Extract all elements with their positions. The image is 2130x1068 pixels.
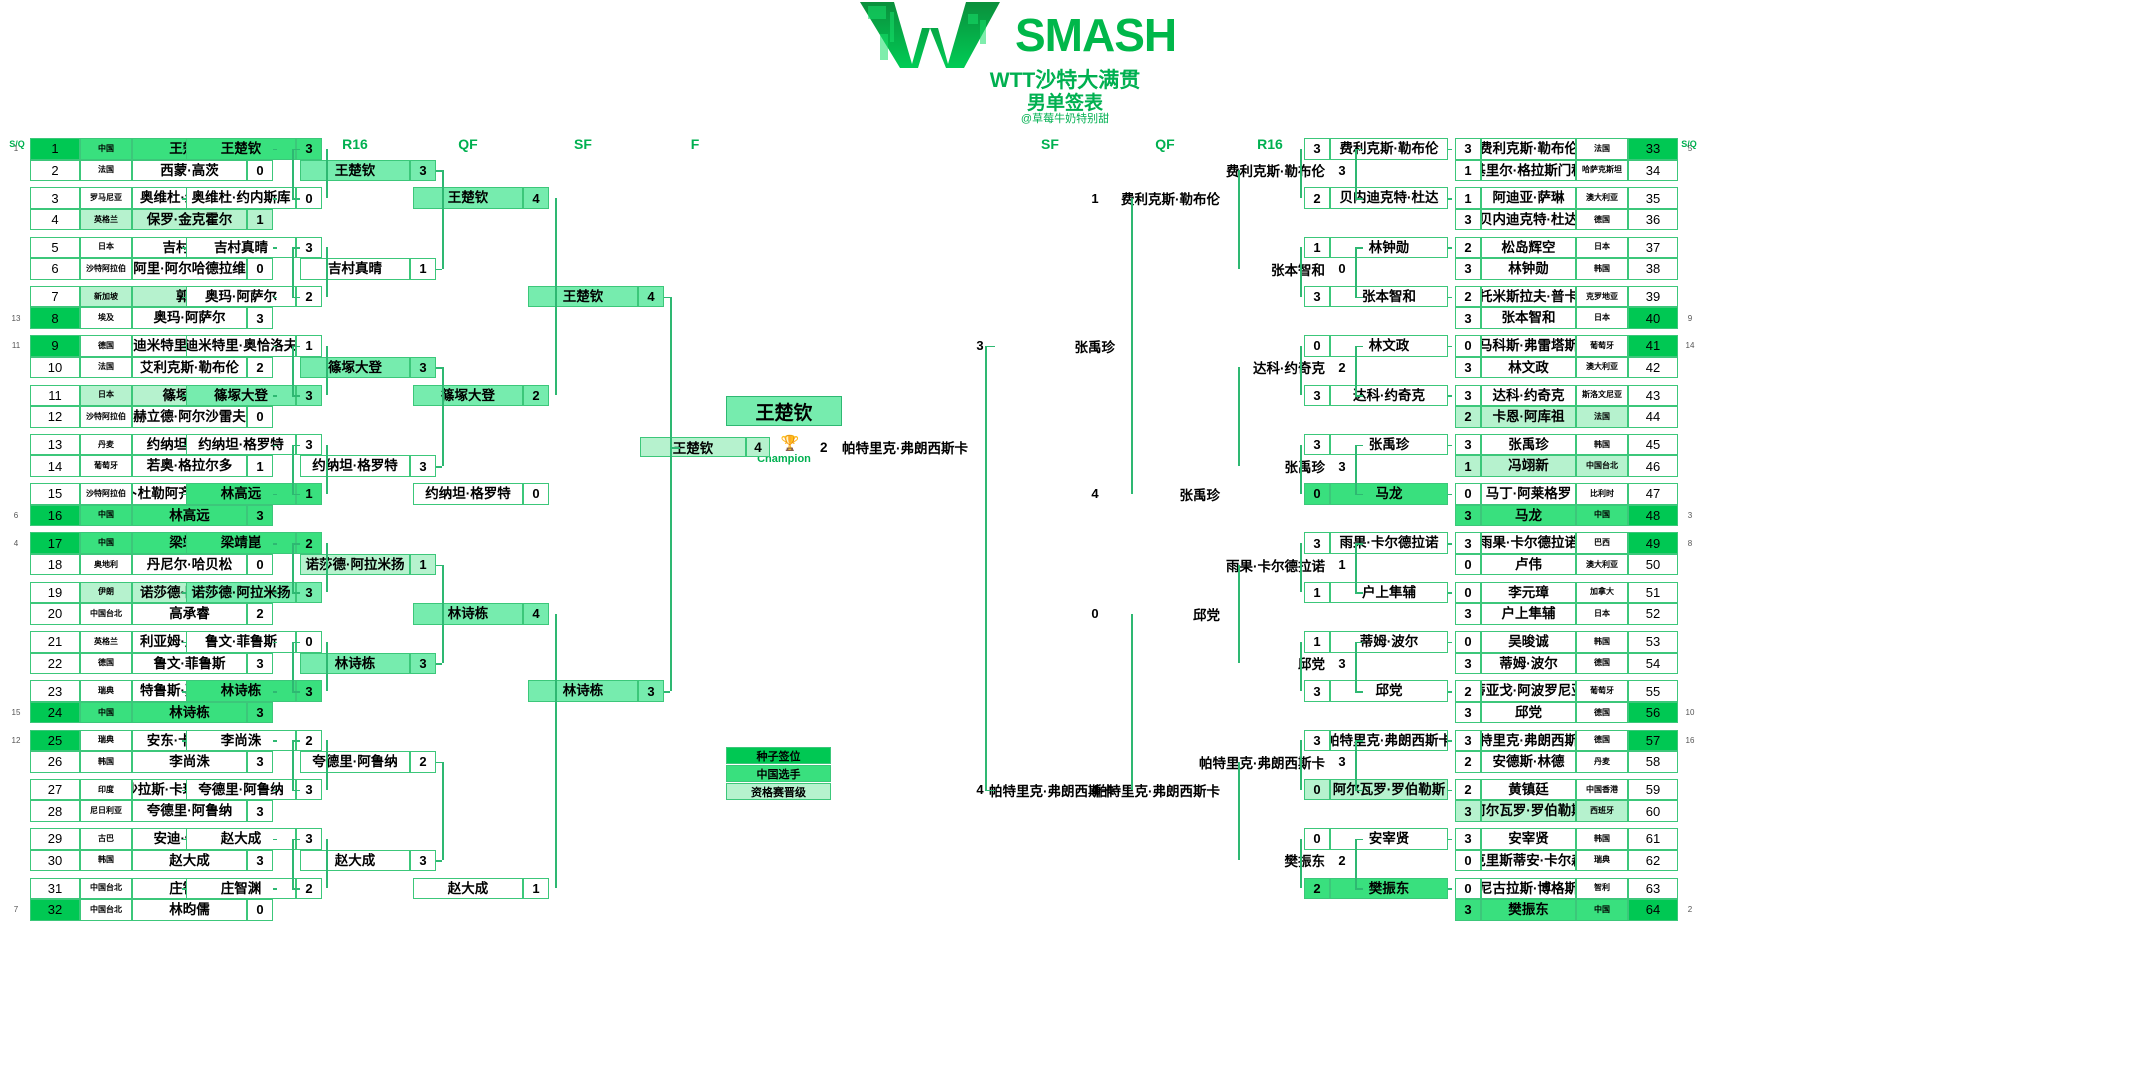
left-player-r64[interactable]: 林昀儒 (132, 899, 247, 921)
left-player-r32[interactable]: 诺莎德·阿拉米扬 (186, 582, 296, 604)
left-player-r32[interactable]: 迪米特里·奥恰洛夫 (186, 335, 296, 357)
left-player-qf[interactable]: 林诗栋 (413, 603, 523, 625)
left-draw-number: 21 (30, 631, 80, 653)
right-score-r32: 3 (1304, 286, 1330, 308)
right-player-r64[interactable]: 蒂亚戈·阿波罗尼亚 (1481, 680, 1576, 702)
right-assoc: 韩国 (1576, 631, 1628, 653)
left-player-r64[interactable]: 夸德里·阿鲁纳 (132, 800, 247, 822)
left-player-r32[interactable]: 庄智渊 (186, 878, 296, 900)
left-assoc: 英格兰 (80, 209, 132, 231)
right-seed-number: 9 (1680, 307, 1700, 329)
left-hline-r16-qf-a (436, 565, 442, 567)
left-player-r64[interactable]: 高承睿 (132, 603, 247, 625)
right-score-r16: 0 (1329, 258, 1355, 280)
right-player-r32[interactable]: 阿尔瓦罗·罗伯勒斯 (1330, 779, 1448, 801)
right-player-r64[interactable]: 李元璋 (1481, 582, 1576, 604)
right-score-r16: 2 (1329, 357, 1355, 379)
left-player-r64[interactable]: 若奥·格拉尔多 (132, 455, 247, 477)
right-bracket-hline-r16-bot (1355, 297, 1363, 299)
right-player-r32[interactable]: 帕特里克·弗朗西斯卡 (1330, 730, 1448, 752)
right-player-r64[interactable]: 马丁·阿莱格罗 (1481, 483, 1576, 505)
right-player-r64[interactable]: 吴晙诚 (1481, 631, 1576, 653)
left-score-r64: 3 (247, 702, 273, 724)
left-player-r32[interactable]: 李尚洙 (186, 730, 296, 752)
left-draw-number: 14 (30, 455, 80, 477)
right-player-r64[interactable]: 松岛辉空 (1481, 237, 1576, 259)
right-score-r16: 2 (1329, 850, 1355, 872)
left-seed-number: 11 (6, 335, 26, 357)
right-draw-number: 64 (1628, 899, 1678, 921)
final-right-player[interactable]: 帕特里克·弗朗西斯卡 (842, 437, 1022, 457)
left-score-r64: 3 (247, 307, 273, 329)
right-score-r32: 3 (1304, 730, 1330, 752)
right-player-r64[interactable]: 林文政 (1481, 357, 1576, 379)
right-score-r32: 0 (1304, 483, 1330, 505)
right-bracket-hline-r16-bot (1355, 888, 1363, 890)
right-player-r32[interactable]: 樊振东 (1330, 878, 1448, 900)
left-vline-r16-qf (442, 367, 444, 466)
right-bracket-hline-r16-top (1355, 149, 1363, 151)
left-score-r64: 0 (247, 899, 273, 921)
trophy-icon: 🏆 (778, 434, 802, 452)
right-player-r16[interactable]: 张禹珍 (1215, 455, 1325, 477)
right-score-r32: 3 (1304, 138, 1330, 160)
right-player-r64[interactable]: 黄镇廷 (1481, 779, 1576, 801)
left-draw-number: 16 (30, 505, 80, 527)
right-score-r16: 1 (1329, 554, 1355, 576)
right-score-r32: 3 (1304, 434, 1330, 456)
right-draw-number: 59 (1628, 779, 1678, 801)
left-match-connector (273, 346, 277, 348)
right-player-r32[interactable]: 户上隼辅 (1330, 582, 1448, 604)
left-assoc: 尼日利亚 (80, 800, 132, 822)
left-connector-r32 (182, 888, 186, 890)
right-score-r64: 2 (1455, 237, 1481, 259)
left-player-r32[interactable]: 奥维杜·约内斯库 (186, 187, 296, 209)
left-player-r16[interactable]: 王楚钦 (300, 160, 410, 182)
left-score-sf: 3 (638, 680, 664, 702)
left-player-r16[interactable]: 约纳坦·格罗特 (300, 455, 410, 477)
left-vline-r16-qf (442, 762, 444, 861)
left-player-qf[interactable]: 王楚钦 (413, 187, 523, 209)
left-hline-r16-qf-b (436, 663, 442, 665)
right-player-sf[interactable]: 帕特里克·弗朗西斯卡 (995, 779, 1115, 801)
left-player-r64[interactable]: 林高远 (132, 505, 247, 527)
left-bracket-vline-r16 (292, 839, 294, 888)
right-bracket-hline-r16-bot (1355, 691, 1363, 693)
left-assoc: 沙特阿拉伯 (80, 406, 132, 428)
right-player-r64[interactable]: 克里斯蒂安·卡尔森 (1481, 850, 1576, 872)
left-vline-sf-f (670, 297, 672, 691)
left-player-r32[interactable]: 赵大成 (186, 828, 296, 850)
right-player-r64[interactable]: 张禹珍 (1481, 434, 1576, 456)
left-draw-number: 30 (30, 850, 80, 872)
right-player-r64[interactable]: 蒂姆·波尔 (1481, 653, 1576, 675)
right-draw-number: 54 (1628, 653, 1678, 675)
right-player-r32[interactable]: 邱党 (1330, 680, 1448, 702)
right-player-r16[interactable]: 张本智和 (1215, 258, 1325, 280)
right-player-r64[interactable]: 户上隼辅 (1481, 603, 1576, 625)
right-player-r32[interactable]: 雨果·卡尔德拉诺 (1330, 532, 1448, 554)
right-draw-number: 36 (1628, 209, 1678, 231)
left-draw-number: 4 (30, 209, 80, 231)
right-score-r64: 3 (1455, 138, 1481, 160)
right-seed-number: 16 (1680, 730, 1700, 752)
right-draw-number: 62 (1628, 850, 1678, 872)
left-player-r32[interactable]: 林高远 (186, 483, 296, 505)
right-bracket-hline-r16-bot (1355, 198, 1363, 200)
right-bracket-vline-r16 (1355, 149, 1357, 198)
right-player-r16[interactable]: 樊振东 (1215, 850, 1325, 872)
left-bracket-hline-r16-top (292, 740, 300, 742)
left-player-qf[interactable]: 赵大成 (413, 878, 523, 900)
column-header-right-sf: SF (995, 136, 1105, 152)
left-score-r64: 3 (247, 850, 273, 872)
right-vline-r32-r16 (1300, 445, 1302, 494)
left-bracket-hline-r16-bot (292, 297, 300, 299)
left-bracket-hline-r16-top (292, 247, 300, 249)
right-score-r64: 3 (1455, 653, 1481, 675)
right-vline-r32-r16 (1300, 247, 1302, 296)
left-assoc: 伊朗 (80, 582, 132, 604)
left-vline-r16-qf (442, 565, 444, 664)
left-match-connector (273, 445, 277, 447)
left-player-r64[interactable]: 赫立德·阿尔沙雷夫 (132, 406, 247, 428)
right-score-r64: 3 (1455, 258, 1481, 280)
right-match-connector (1448, 149, 1452, 151)
left-player-r16[interactable]: 林诗栋 (300, 653, 410, 675)
left-bracket-vline-r16 (292, 247, 294, 296)
left-bracket-hline-r16-bot (292, 691, 300, 693)
final-left-player[interactable]: 王楚钦 (640, 437, 746, 457)
left-player-r64[interactable]: 保罗·金克霍尔 (132, 209, 247, 231)
left-draw-number: 3 (30, 187, 80, 209)
left-assoc: 古巴 (80, 828, 132, 850)
right-score-r64: 3 (1455, 505, 1481, 527)
left-draw-number: 24 (30, 702, 80, 724)
left-player-r32[interactable]: 鲁文·菲鲁斯 (186, 631, 296, 653)
left-player-r64[interactable]: 奥玛·阿萨尔 (132, 307, 247, 329)
left-assoc: 中国 (80, 532, 132, 554)
right-score-qf: 0 (1082, 603, 1108, 625)
final-left-score: 4 (746, 437, 770, 457)
right-score-r32: 3 (1304, 385, 1330, 407)
left-vline-qf-sf-bot (555, 614, 557, 888)
left-connector-r32 (182, 247, 186, 249)
right-score-qf: 1 (1082, 187, 1108, 209)
left-player-r64[interactable]: 赵大成 (132, 850, 247, 872)
right-player-r64[interactable]: 马科斯·弗雷塔斯 (1481, 335, 1576, 357)
right-player-r64[interactable]: 费利克斯·勒布伦 (1481, 138, 1576, 160)
right-player-r64[interactable]: 邱党 (1481, 702, 1576, 724)
right-draw-number: 42 (1628, 357, 1678, 379)
right-player-r16[interactable]: 费利克斯·勒布伦 (1215, 160, 1325, 182)
right-assoc: 德国 (1576, 653, 1628, 675)
right-score-r64: 0 (1455, 878, 1481, 900)
left-hline-r16-qf-b (436, 466, 442, 468)
left-player-r16[interactable]: 吉村真晴 (300, 258, 410, 280)
right-player-r32[interactable]: 林钟勋 (1330, 237, 1448, 259)
left-draw-number: 32 (30, 899, 80, 921)
left-assoc: 法国 (80, 160, 132, 182)
left-score-r64: 1 (247, 455, 273, 477)
left-player-r64[interactable]: 西蒙·高茨 (132, 160, 247, 182)
left-player-r64[interactable]: 艾利克斯·勒布伦 (132, 357, 247, 379)
left-player-r64[interactable]: 鲁文·菲鲁斯 (132, 653, 247, 675)
right-assoc: 中国台北 (1576, 455, 1628, 477)
right-score-r64: 3 (1455, 434, 1481, 456)
left-draw-number: 15 (30, 483, 80, 505)
right-player-r64[interactable]: 林钟勋 (1481, 258, 1576, 280)
right-assoc: 德国 (1576, 209, 1628, 231)
right-player-r64[interactable]: 卢伟 (1481, 554, 1576, 576)
left-hline-r16-qf-a (436, 367, 442, 369)
left-player-r32[interactable]: 吉村真晴 (186, 237, 296, 259)
left-draw-number: 1 (30, 138, 80, 160)
right-assoc: 日本 (1576, 603, 1628, 625)
left-bracket-hline-r16-bot (292, 198, 300, 200)
right-score-r32: 0 (1304, 779, 1330, 801)
right-player-qf[interactable]: 帕特里克·弗朗西斯卡 (1110, 779, 1220, 801)
right-bracket-hline-r16-top (1355, 247, 1363, 249)
left-assoc: 奥地利 (80, 554, 132, 576)
left-player-qf[interactable]: 篠塚大登 (413, 385, 523, 407)
right-player-r64[interactable]: 马龙 (1481, 505, 1576, 527)
right-player-r32[interactable]: 蒂姆·波尔 (1330, 631, 1448, 653)
right-vline-sf-f (985, 346, 987, 790)
column-header-final: F (640, 136, 750, 152)
right-seed-number: 14 (1680, 335, 1700, 357)
right-draw-number: 44 (1628, 406, 1678, 428)
right-score-r32: 0 (1304, 828, 1330, 850)
right-draw-number: 35 (1628, 187, 1678, 209)
left-assoc: 韩国 (80, 850, 132, 872)
right-player-r64[interactable]: 安德斯·林德 (1481, 751, 1576, 773)
left-bracket-hline-r16-bot (292, 790, 300, 792)
left-score-r16: 1 (410, 554, 436, 576)
right-draw-number: 63 (1628, 878, 1678, 900)
right-player-r64[interactable]: 阿迪亚·萨琳 (1481, 187, 1576, 209)
left-player-r32[interactable]: 王楚钦 (186, 138, 296, 160)
left-player-r32[interactable]: 约纳坦·格罗特 (186, 434, 296, 456)
right-assoc: 哈萨克斯坦 (1576, 160, 1628, 182)
right-player-r32[interactable]: 费利克斯·勒布伦 (1330, 138, 1448, 160)
right-player-r32[interactable]: 林文政 (1330, 335, 1448, 357)
right-player-r64[interactable]: 贝内迪克特·杜达 (1481, 209, 1576, 231)
left-player-r64[interactable]: 丹尼尔·哈贝松 (132, 554, 247, 576)
left-match-connector (273, 839, 277, 841)
left-player-r32[interactable]: 篠塚大登 (186, 385, 296, 407)
right-assoc: 瑞典 (1576, 850, 1628, 872)
left-bracket-hline-r16-bot (292, 395, 300, 397)
right-bracket-vline-r16 (1355, 247, 1357, 296)
left-assoc: 新加坡 (80, 286, 132, 308)
left-score-r64: 0 (247, 258, 273, 280)
left-bracket-vline-r16 (292, 740, 294, 789)
right-player-r32[interactable]: 马龙 (1330, 483, 1448, 505)
left-bracket-vline-r16 (292, 346, 294, 395)
left-player-r16[interactable]: 诺莎德·阿拉米扬 (300, 554, 410, 576)
left-hline-sf-f-top (664, 297, 670, 299)
right-player-r64[interactable]: 安宰贤 (1481, 828, 1576, 850)
right-assoc: 日本 (1576, 237, 1628, 259)
left-bracket-vline-r16 (292, 543, 294, 592)
smash-logo: SMASH (860, 2, 1280, 72)
left-match-connector (273, 790, 277, 792)
left-score-qf: 1 (523, 878, 549, 900)
right-bracket-vline-r16 (1355, 445, 1357, 494)
left-player-r64[interactable]: 阿里·阿尔哈德拉维 (132, 258, 247, 280)
right-player-r64[interactable]: 张本智和 (1481, 307, 1576, 329)
right-match-connector (1448, 592, 1452, 594)
left-score-r16: 2 (410, 751, 436, 773)
left-score-r64: 3 (247, 505, 273, 527)
left-score-r64: 0 (247, 554, 273, 576)
right-player-r32[interactable]: 安宰贤 (1330, 828, 1448, 850)
left-score-sf: 4 (638, 286, 664, 308)
left-draw-number: 5 (30, 237, 80, 259)
right-draw-number: 34 (1628, 160, 1678, 182)
right-bracket-hline-r16-top (1355, 740, 1363, 742)
w-logo-icon (860, 2, 1000, 68)
left-bracket-vline-r16 (292, 445, 294, 494)
left-assoc: 中国 (80, 505, 132, 527)
left-player-r64[interactable]: 李尚洙 (132, 751, 247, 773)
right-player-r32[interactable]: 张禹珍 (1330, 434, 1448, 456)
left-bracket-hline-r16-top (292, 543, 300, 545)
right-player-r16[interactable]: 雨果·卡尔德拉诺 (1215, 554, 1325, 576)
left-player-sf[interactable]: 林诗栋 (528, 680, 638, 702)
right-player-r64[interactable]: 樊振东 (1481, 899, 1576, 921)
legend-item: 中国选手 (726, 765, 831, 782)
left-draw-number: 6 (30, 258, 80, 280)
right-assoc: 比利时 (1576, 483, 1628, 505)
left-assoc: 印度 (80, 779, 132, 801)
right-vline-qf-sf-bot (1131, 614, 1133, 790)
left-bracket-hline-r16-top (292, 839, 300, 841)
right-vline-r16-qf (1238, 170, 1240, 269)
right-bracket-vline-r16 (1355, 642, 1357, 691)
right-score-r64: 0 (1455, 483, 1481, 505)
right-draw-number: 43 (1628, 385, 1678, 407)
right-player-r64[interactable]: 尼古拉斯·博格斯 (1481, 878, 1576, 900)
left-bracket-vline-r16 (292, 149, 294, 198)
left-connector-r32 (182, 691, 186, 693)
right-player-sf[interactable]: 张禹珍 (995, 335, 1115, 357)
left-player-r32[interactable]: 林诗栋 (186, 680, 296, 702)
right-draw-number: 49 (1628, 532, 1678, 554)
right-vline-r32-r16 (1300, 346, 1302, 395)
left-player-r32[interactable]: 夸德里·阿鲁纳 (186, 779, 296, 801)
left-score-qf: 0 (523, 483, 549, 505)
right-score-r64: 0 (1455, 631, 1481, 653)
right-score-qf: 4 (1082, 483, 1108, 505)
left-draw-number: 20 (30, 603, 80, 625)
right-assoc: 中国香港 (1576, 779, 1628, 801)
left-draw-number: 9 (30, 335, 80, 357)
left-hline-to-final (670, 447, 680, 449)
right-vline-r32-r16 (1300, 740, 1302, 789)
left-draw-number: 2 (30, 160, 80, 182)
right-player-qf[interactable]: 邱党 (1110, 603, 1220, 625)
right-player-r64[interactable]: 阿尔瓦罗·罗伯勒斯 (1481, 800, 1576, 822)
right-hline-sf-f-top (985, 346, 995, 348)
right-player-r64[interactable]: 基里尔·格拉斯门科 (1481, 160, 1576, 182)
right-player-r16[interactable]: 达科·约奇克 (1215, 357, 1325, 379)
left-assoc: 日本 (80, 385, 132, 407)
right-draw-number: 61 (1628, 828, 1678, 850)
right-match-connector (1448, 494, 1452, 496)
left-draw-number: 31 (30, 878, 80, 900)
left-assoc: 德国 (80, 335, 132, 357)
left-vline-r32-r16 (326, 543, 328, 592)
left-vline-r16-qf (442, 170, 444, 269)
left-seed-number: 15 (6, 702, 26, 724)
right-bracket-hline-r16-top (1355, 543, 1363, 545)
right-score-r64: 2 (1455, 286, 1481, 308)
right-player-r32[interactable]: 达科·约奇克 (1330, 385, 1448, 407)
right-player-r32[interactable]: 张本智和 (1330, 286, 1448, 308)
left-score-qf: 4 (523, 187, 549, 209)
left-player-r32[interactable]: 梁靖崑 (186, 532, 296, 554)
right-score-r32: 2 (1304, 187, 1330, 209)
right-score-r16: 3 (1329, 751, 1355, 773)
right-draw-number: 33 (1628, 138, 1678, 160)
left-score-r64: 2 (247, 357, 273, 379)
right-player-r16[interactable]: 邱党 (1215, 653, 1325, 675)
right-player-qf[interactable]: 费利克斯·勒布伦 (1110, 187, 1220, 209)
right-player-r32[interactable]: 贝内迪克特·杜达 (1330, 187, 1448, 209)
champion-box: 王楚钦 (726, 396, 842, 426)
right-player-r64[interactable]: 帕特里克·弗朗西斯卡 (1481, 730, 1576, 752)
page-header: SMASH WTT沙特大满贯 男单签表 @草莓牛奶特别甜 (0, 0, 2130, 120)
left-player-qf[interactable]: 约纳坦·格罗特 (413, 483, 523, 505)
left-hline-sf-f-bot (664, 691, 670, 693)
left-player-r64[interactable]: 林诗栋 (132, 702, 247, 724)
left-player-r16[interactable]: 夸德里·阿鲁纳 (300, 751, 410, 773)
right-match-connector (1448, 790, 1452, 792)
right-player-r64[interactable]: 达科·约奇克 (1481, 385, 1576, 407)
left-connector-r32 (182, 592, 186, 594)
right-player-r16[interactable]: 帕特里克·弗朗西斯卡 (1215, 751, 1325, 773)
left-hline-r16-qf-b (436, 860, 442, 862)
right-assoc: 丹麦 (1576, 751, 1628, 773)
left-player-r16[interactable]: 篠塚大登 (300, 357, 410, 379)
right-seed-number: 8 (1680, 532, 1700, 554)
left-seed-number: 1 (6, 138, 26, 160)
left-player-r32[interactable]: 奥玛·阿萨尔 (186, 286, 296, 308)
right-player-r64[interactable]: 冯翊新 (1481, 455, 1576, 477)
right-player-r64[interactable]: 托米斯拉夫·普卡 (1481, 286, 1576, 308)
left-match-connector (273, 395, 277, 397)
right-score-r64: 3 (1455, 828, 1481, 850)
left-player-r16[interactable]: 赵大成 (300, 850, 410, 872)
left-match-connector (273, 149, 277, 151)
right-player-r64[interactable]: 雨果·卡尔德拉诺 (1481, 532, 1576, 554)
right-draw-number: 57 (1628, 730, 1678, 752)
right-bracket-vline-r16 (1355, 839, 1357, 888)
left-player-sf[interactable]: 王楚钦 (528, 286, 638, 308)
left-seed-number: 13 (6, 307, 26, 329)
right-assoc: 中国 (1576, 505, 1628, 527)
right-score-r64: 2 (1455, 751, 1481, 773)
right-assoc: 韩国 (1576, 434, 1628, 456)
right-assoc: 克罗地亚 (1576, 286, 1628, 308)
right-seed-number: 5 (1680, 138, 1700, 160)
right-player-r64[interactable]: 卡恩·阿库祖 (1481, 406, 1576, 428)
right-score-r64: 0 (1455, 554, 1481, 576)
right-player-qf[interactable]: 张禹珍 (1110, 483, 1220, 505)
